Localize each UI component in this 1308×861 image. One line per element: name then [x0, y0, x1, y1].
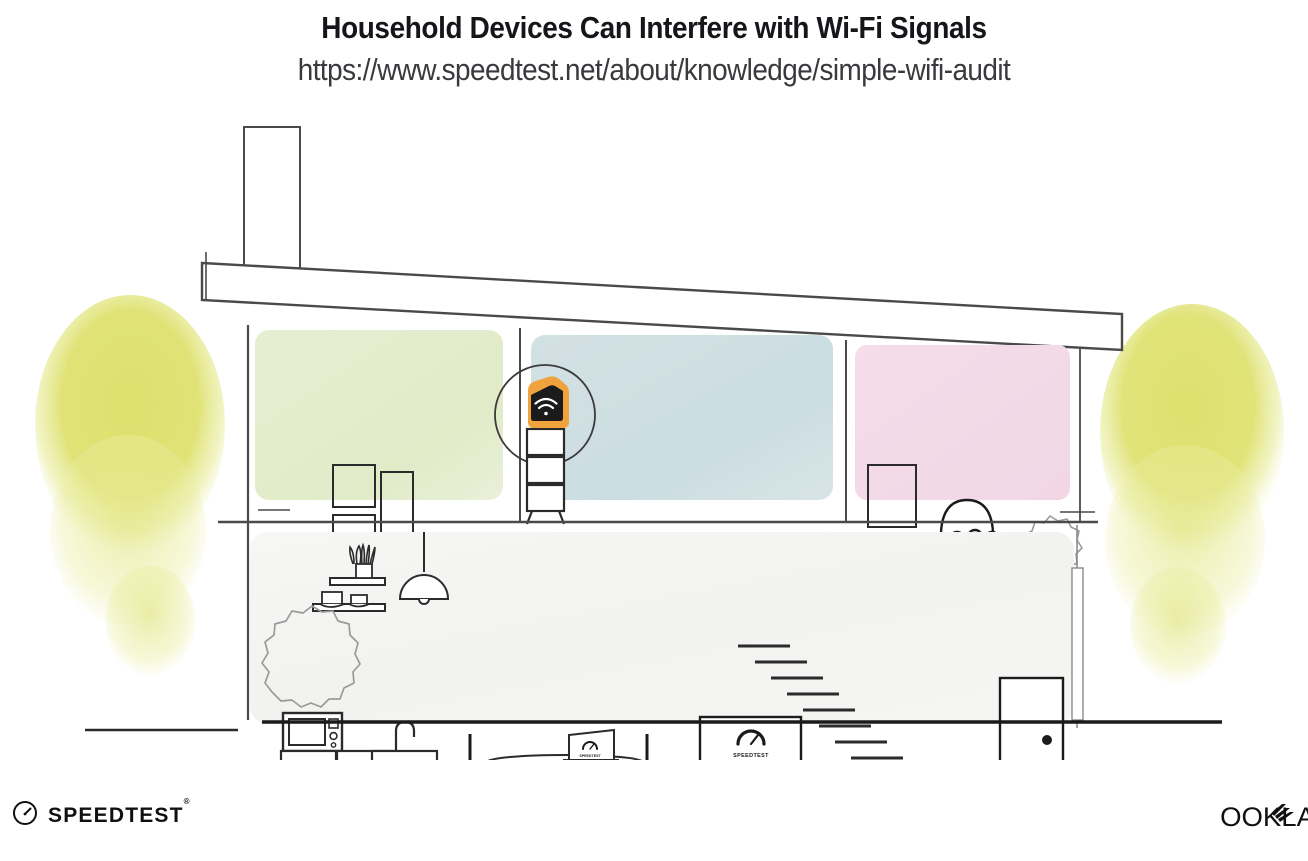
wifi-router[interactable] [528, 376, 569, 428]
room-bedroom-green [255, 330, 503, 500]
ookla-logo[interactable]: OOKLA [1221, 802, 1308, 833]
tv-screen-label: SPEEDTEST [733, 753, 769, 759]
tree-left [35, 295, 225, 675]
dining-chair-left [470, 734, 506, 760]
speedtest-logo[interactable]: SPEEDTEST® [12, 800, 190, 831]
laptop[interactable]: SPEEDTEST [563, 730, 619, 760]
speedometer-icon [12, 800, 38, 831]
source-url: https://www.speedtest.net/about/knowledg… [65, 52, 1242, 88]
kitchen-sink [396, 722, 414, 751]
page-title: Household Devices Can Interfere with Wi-… [65, 10, 1242, 46]
chimney [244, 127, 300, 287]
footer: SPEEDTEST® OOKLA [0, 780, 1308, 861]
ookla-chevron-icon [1266, 800, 1300, 839]
trademark-symbol: ® [184, 797, 190, 806]
house-illustration: SPEEDTEST [0, 100, 1308, 760]
room-bedroom-blue [531, 335, 833, 500]
shelf-unit [527, 429, 564, 524]
kitchen-counter [281, 751, 437, 760]
door-knob-icon[interactable] [1042, 735, 1052, 745]
speedtest-wordmark: SPEEDTEST® [48, 804, 190, 828]
illustration-page: Household Devices Can Interfere with Wi-… [0, 0, 1308, 861]
header: Household Devices Can Interfere with Wi-… [0, 0, 1308, 88]
tree-right [1100, 304, 1284, 683]
nursery-wall-art [868, 465, 916, 527]
laptop-screen-label: SPEEDTEST [579, 754, 601, 758]
